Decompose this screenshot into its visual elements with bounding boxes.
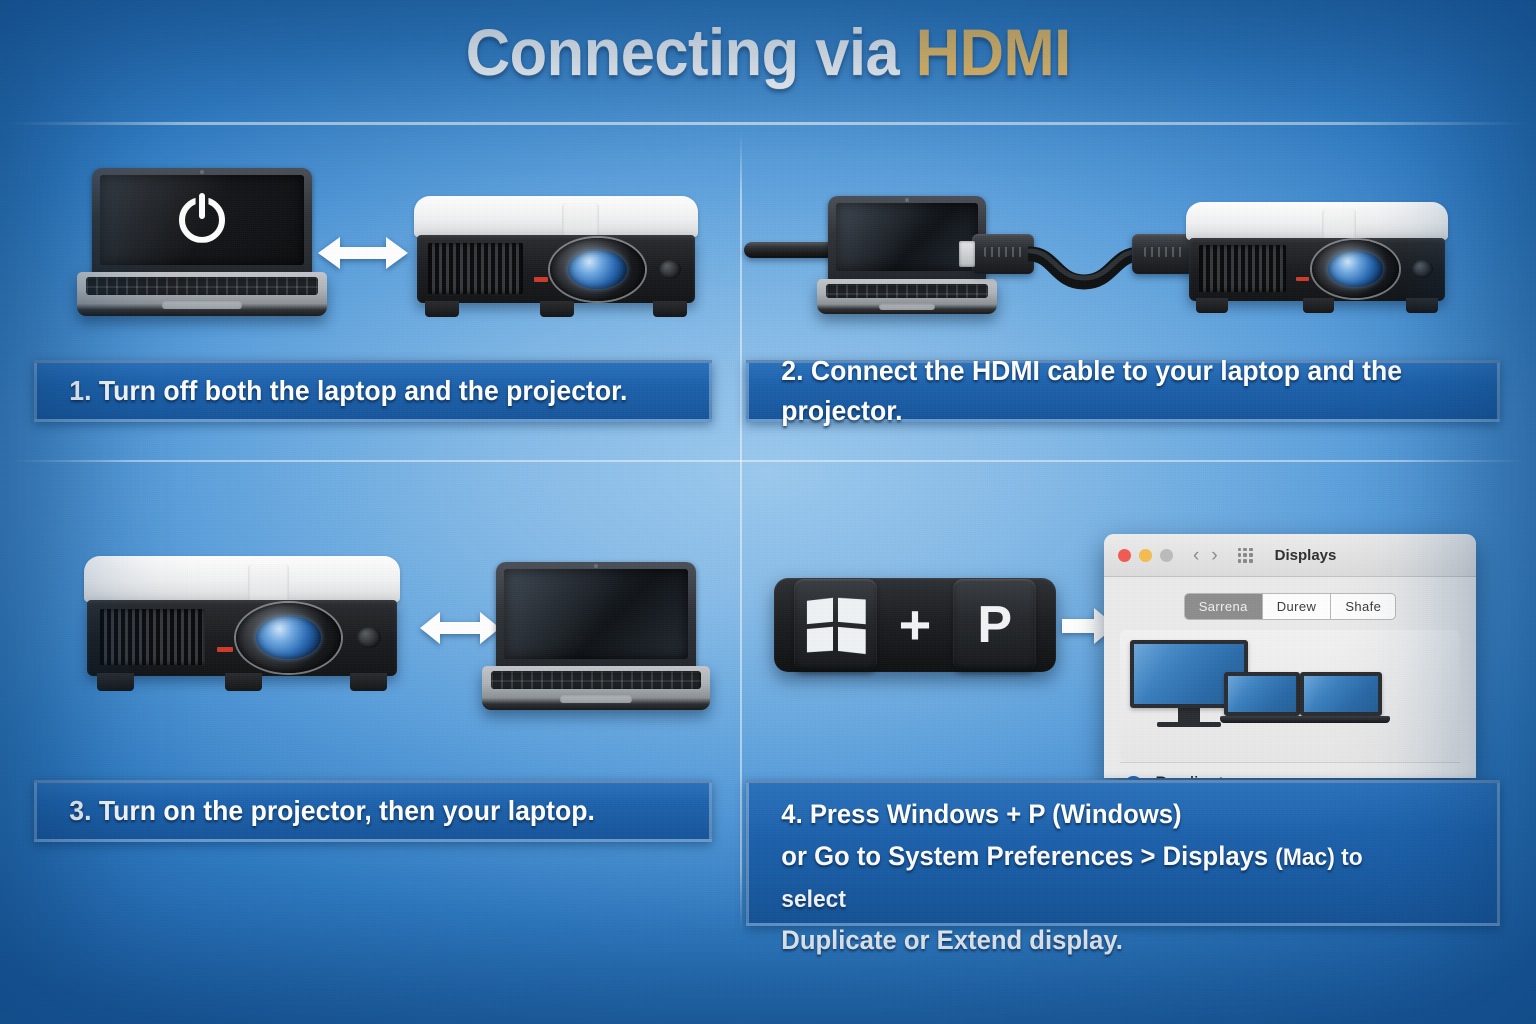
step-3-caption-text: 3. Turn on the projector, then your lapt… [37,791,627,831]
minimize-button[interactable] [1139,549,1152,562]
step-1-caption-text: 1. Turn off both the laptop and the proj… [37,371,660,411]
projector-vent [428,243,523,294]
projector-lens [1328,251,1382,287]
projector-lens-ring [236,603,341,673]
laptop-lid [828,196,986,281]
laptop-screen [504,569,688,659]
projector-lens [256,616,321,659]
projector-top [1186,202,1448,240]
laptop-base [77,272,328,316]
grid-icon[interactable] [1238,548,1253,563]
screen-gloss [504,569,660,659]
power-icon [179,197,225,243]
hdmi-connector-laptop-side [972,234,1034,274]
projector-front [417,235,695,303]
title-main: Connecting via [465,15,915,89]
title-text: Connecting via HDMI [465,14,1070,90]
plus-sign: + [899,597,932,653]
step-1-caption-bar: 1. Turn off both the laptop and the proj… [34,360,712,422]
step-4-caption-bar: 4. Press Windows + P (Windows)or Go to S… [746,780,1500,926]
hdmi-connector-projector-side [1132,234,1194,274]
title-accent: HDMI [916,15,1071,89]
window-titlebar: ‹ › Displays [1104,534,1476,577]
projector-feet [425,301,686,317]
projector-indicator [1296,277,1309,281]
window-body: Sarrena Durew Shafe [1104,577,1476,778]
hdmi-grip-ribs [1144,247,1182,257]
window-title-text: Displays [1275,547,1337,564]
step-4-line-3: Duplicate or Extend display. [781,925,1123,955]
projector-lens-ring [1312,240,1399,298]
displays-window[interactable]: ‹ › Displays Sarrena Durew Shafe [1104,534,1476,778]
option-duplicate-label: Duplicate [1155,774,1234,778]
hdmi-grip-ribs [984,247,1022,257]
laptop-display[interactable] [1300,672,1382,716]
title-divider [8,122,1528,125]
projector-feet [97,673,388,691]
back-chevron-icon[interactable]: ‹ [1193,546,1199,565]
hdmi-cable-loop [1028,230,1142,302]
radio-duplicate[interactable] [1124,776,1143,779]
tab-segmented-control[interactable]: Sarrena Durew Shafe [1120,593,1460,620]
panel1-connection-arrow [318,232,408,274]
panel3-connection-arrow [420,608,500,648]
panel3-laptop [496,562,696,710]
projector-ir-sensor [659,260,681,279]
laptop-lid [92,168,312,275]
panel1-laptop [92,168,312,316]
laptop-screen [100,175,304,265]
laptop-keyboard [491,671,701,689]
webcam-icon [905,198,909,202]
laptop-lid [496,562,696,669]
projector-indicator [217,647,232,652]
hdmi-tip [959,241,975,267]
laptop-trackpad [560,694,631,703]
screen-gloss [836,203,956,271]
zoom-button[interactable] [1160,549,1173,562]
laptop-trackpad [879,303,934,310]
projector-feet [1196,298,1437,313]
forward-chevron-icon[interactable]: › [1211,546,1217,565]
second-display[interactable] [1224,672,1300,716]
projector-ir-sensor [1412,260,1433,278]
p-key[interactable]: P [953,579,1036,671]
nav-buttons[interactable]: ‹ › [1193,546,1218,565]
panel3-projector [84,556,400,692]
step-2-caption-bar: 2. Connect the HDMI cable to your laptop… [746,360,1500,422]
tab-0[interactable]: Sarrena [1184,593,1263,620]
close-button[interactable] [1118,549,1131,562]
webcam-icon [594,564,598,568]
step-4-line-2a: or Go to System Preferences > Displays [781,841,1275,871]
laptop-trackpad [162,300,241,309]
projector-ir-sensor [357,627,382,648]
step-4-line-1: 4. Press Windows + P (Windows) [781,799,1181,829]
projector-indicator [534,277,548,282]
step-4-mac-note: (Mac) [1275,844,1335,871]
projector-front [87,600,397,676]
projector-lens [568,250,627,289]
tab-2[interactable]: Shafe [1331,593,1396,620]
horizontal-divider [8,460,1528,462]
display-arrangement-area[interactable] [1120,630,1460,762]
option-duplicate[interactable]: Duplicate [1120,762,1460,778]
projector-front [1189,238,1446,301]
projector-top [84,556,400,602]
projector-top [414,196,698,237]
traffic-lights [1118,549,1173,562]
windows-key[interactable] [794,579,877,671]
laptop-keyboard [826,284,988,298]
tab-1[interactable]: Durew [1263,593,1332,620]
laptop-base [817,279,997,314]
windows-p-shortcut-graphic: + P [774,578,1056,672]
step-3-caption-bar: 3. Turn on the projector, then your lapt… [34,780,712,842]
laptop-screen [836,203,978,271]
page-title: Connecting via HDMI [0,14,1536,90]
webcam-icon [200,170,204,174]
vertical-divider [740,132,742,932]
projector-vent [1199,245,1286,291]
windows-logo-icon [807,598,865,651]
step-4-caption-text: 4. Press Windows + P (Windows)or Go to S… [749,793,1460,961]
infographic-canvas: Connecting via HDMI [0,0,1536,1024]
panel1-projector [414,196,698,318]
projector-vent [100,609,205,665]
panel2-projector [1186,202,1448,314]
laptop-display-base [1220,716,1390,723]
projector-lens-ring [550,238,645,301]
laptop-keyboard [86,277,319,295]
laptop-base [482,666,710,710]
step-2-caption-text: 2. Connect the HDMI cable to your laptop… [749,351,1460,431]
